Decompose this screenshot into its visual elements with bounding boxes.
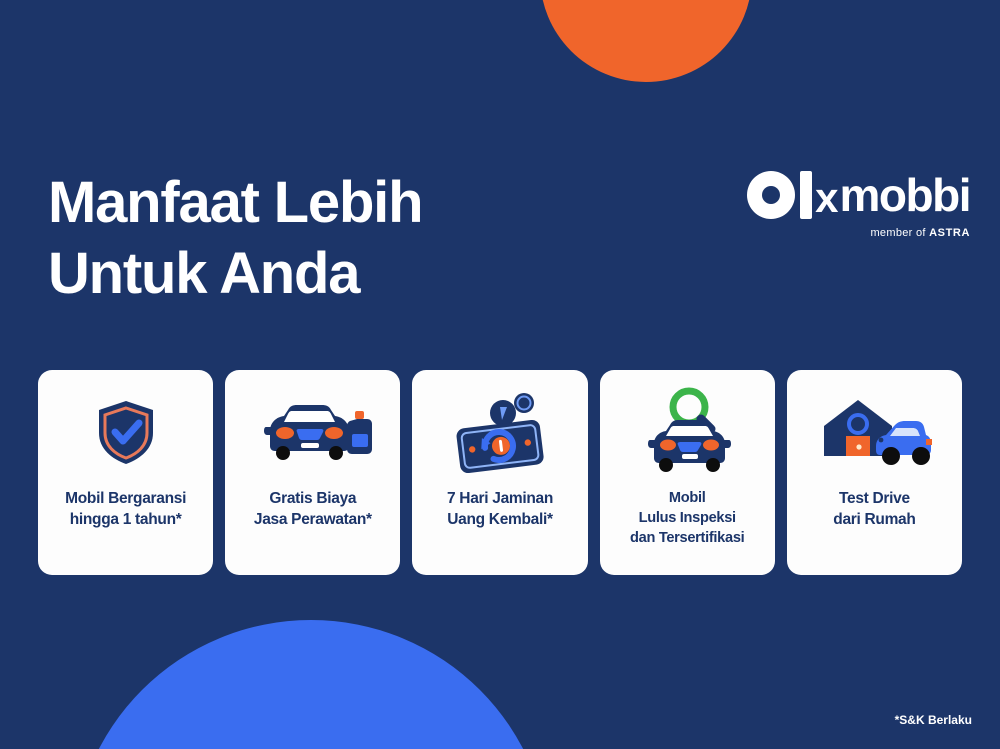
terms-footnote: *S&K Berlaku: [895, 713, 972, 727]
benefit-card-label: Test Drive dari Rumah: [827, 488, 921, 531]
car-oil-can-icon: [254, 376, 372, 488]
orange-circle-decoration: [540, 0, 752, 82]
logo-wordmark: x mobbi: [690, 170, 970, 220]
benefit-card-label: 7 Hari Jaminan Uang Kembali*: [441, 488, 559, 531]
logo-subtitle: member of ASTRA: [690, 227, 970, 239]
page-title: Manfaat Lebih Untuk Anda: [48, 168, 422, 310]
benefit-card-warranty[interactable]: Mobil Bergaransi hingga 1 tahun*: [38, 370, 213, 575]
shield-check-icon: [87, 376, 165, 488]
benefit-card-inspection[interactable]: Mobil Lulus Inspeksi dan Tersertifikasi: [600, 370, 775, 575]
logo-x-letter: x: [815, 177, 838, 219]
logo-sub-prefix: member of: [870, 227, 929, 239]
home-test-drive-icon: [816, 376, 932, 488]
blue-circle-decoration: [72, 620, 550, 749]
logo-o-icon: [747, 171, 795, 219]
promo-banner: Manfaat Lebih Untuk Anda x mobbi member …: [0, 0, 1000, 749]
benefit-card-label: Mobil Lulus Inspeksi dan Tersertifikasi: [624, 488, 750, 548]
money-back-icon: [445, 376, 555, 488]
benefit-card-home-test-drive[interactable]: Test Drive dari Rumah: [787, 370, 962, 575]
benefit-card-label: Gratis Biaya Jasa Perawatan*: [248, 488, 378, 531]
logo-sub-brand: ASTRA: [929, 227, 970, 239]
logo-l-icon: [800, 171, 812, 219]
benefit-card-label: Mobil Bergaransi hingga 1 tahun*: [59, 488, 192, 531]
brand-logo: x mobbi member of ASTRA: [690, 170, 970, 239]
logo-mobbi-text: mobbi: [840, 172, 970, 218]
benefit-card-money-back[interactable]: 7 Hari Jaminan Uang Kembali*: [412, 370, 587, 575]
benefit-card-free-service[interactable]: Gratis Biaya Jasa Perawatan*: [225, 370, 400, 575]
benefit-card-row: Mobil Bergaransi hingga 1 tahun*: [38, 370, 962, 575]
car-inspection-icon: [637, 376, 737, 488]
